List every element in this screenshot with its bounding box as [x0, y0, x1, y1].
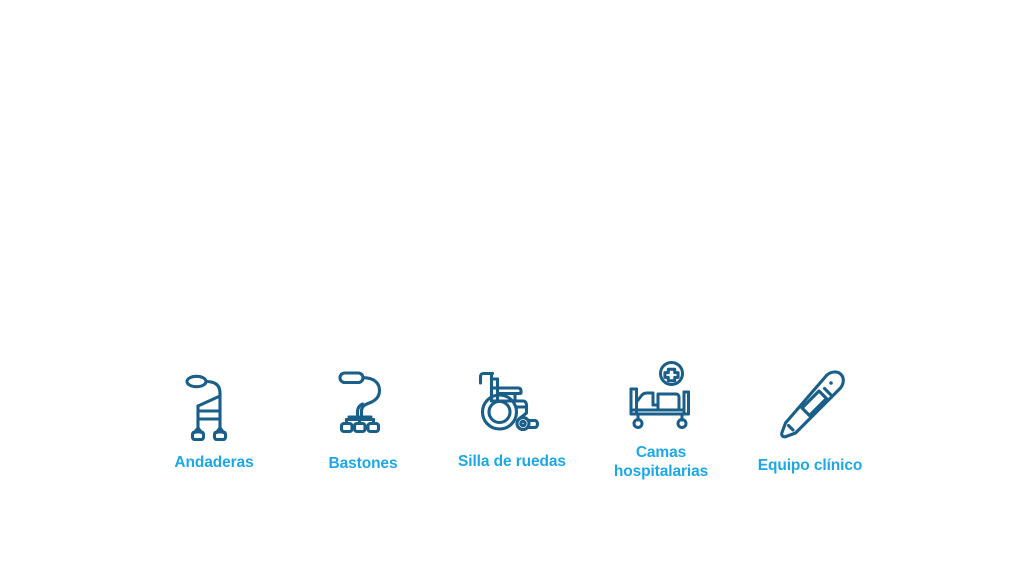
page-canvas: Andaderas	[0, 0, 1024, 580]
walker-icon	[173, 366, 255, 448]
category-item-equipo-clinico[interactable]: Equipo clínico	[736, 358, 884, 476]
thermometer-icon	[769, 363, 851, 445]
wheelchair-icon	[471, 361, 553, 443]
quad-cane-icon	[322, 362, 404, 444]
category-label-andaderas: Andaderas	[174, 454, 253, 473]
category-label-camas-hospitalarias: Camas hospitalarias	[614, 444, 708, 482]
category-item-silla-de-ruedas[interactable]: Silla de ruedas	[438, 358, 586, 472]
category-label-equipo-clinico: Equipo clínico	[758, 457, 863, 476]
category-row: Andaderas	[140, 358, 884, 498]
hospital-bed-icon	[620, 358, 702, 440]
category-item-andaderas[interactable]: Andaderas	[140, 358, 288, 473]
category-label-bastones: Bastones	[329, 455, 398, 474]
category-item-camas-hospitalarias[interactable]: Camas hospitalarias	[587, 358, 735, 482]
category-label-silla-de-ruedas: Silla de ruedas	[458, 453, 566, 472]
category-item-bastones[interactable]: Bastones	[289, 358, 437, 474]
